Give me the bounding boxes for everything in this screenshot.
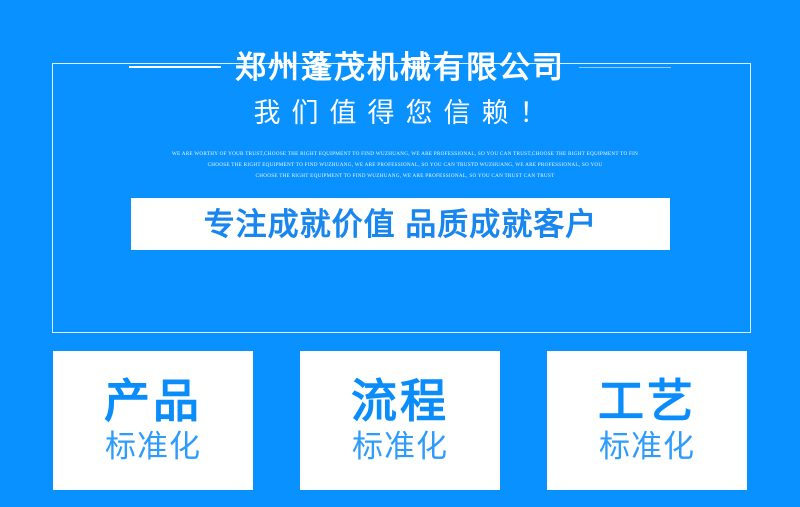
promotional-banner: 郑州蓬茂机械有限公司 我们值得您信赖！ WE ARE WORTHY OF YOU… bbox=[0, 0, 800, 507]
feature-card-craft-subtitle: 标准化 bbox=[599, 429, 695, 465]
feature-cards-row: 产品 标准化 流程 标准化 工艺 标准化 bbox=[53, 351, 747, 490]
feature-card-process: 流程 标准化 bbox=[300, 351, 500, 490]
feature-card-process-title: 流程 bbox=[351, 377, 449, 427]
feature-card-craft-title: 工艺 bbox=[598, 377, 696, 427]
company-title: 郑州蓬茂机械有限公司 bbox=[221, 52, 579, 83]
english-tagline-line-2: CHOOSE THE RIGHT EQUIPMENT TO FIND WUZHU… bbox=[140, 160, 670, 171]
feature-card-product-title: 产品 bbox=[104, 377, 202, 427]
english-tagline-line-3: CHOOSE THE RIGHT EQUIPMENT TO FIND WUZHU… bbox=[140, 171, 670, 182]
feature-card-product-subtitle: 标准化 bbox=[105, 429, 201, 465]
feature-card-craft: 工艺 标准化 bbox=[547, 351, 747, 490]
feature-card-product: 产品 标准化 bbox=[53, 351, 253, 490]
sub-headline: 我们值得您信赖！ bbox=[0, 97, 800, 129]
slogan-banner: 专注成就价值 品质成就客户 bbox=[131, 198, 670, 250]
right-rule-decoration bbox=[579, 67, 671, 68]
english-tagline-block: WE ARE WORTHY OF YOUR TRUST,CHOOSE THE R… bbox=[140, 149, 670, 182]
slogan-text: 专注成就价值 品质成就客户 bbox=[204, 209, 598, 240]
english-tagline-line-1: WE ARE WORTHY OF YOUR TRUST,CHOOSE THE R… bbox=[140, 149, 670, 160]
headline-row: 郑州蓬茂机械有限公司 bbox=[0, 44, 800, 90]
left-rule-decoration bbox=[129, 66, 221, 68]
feature-card-process-subtitle: 标准化 bbox=[352, 429, 448, 465]
